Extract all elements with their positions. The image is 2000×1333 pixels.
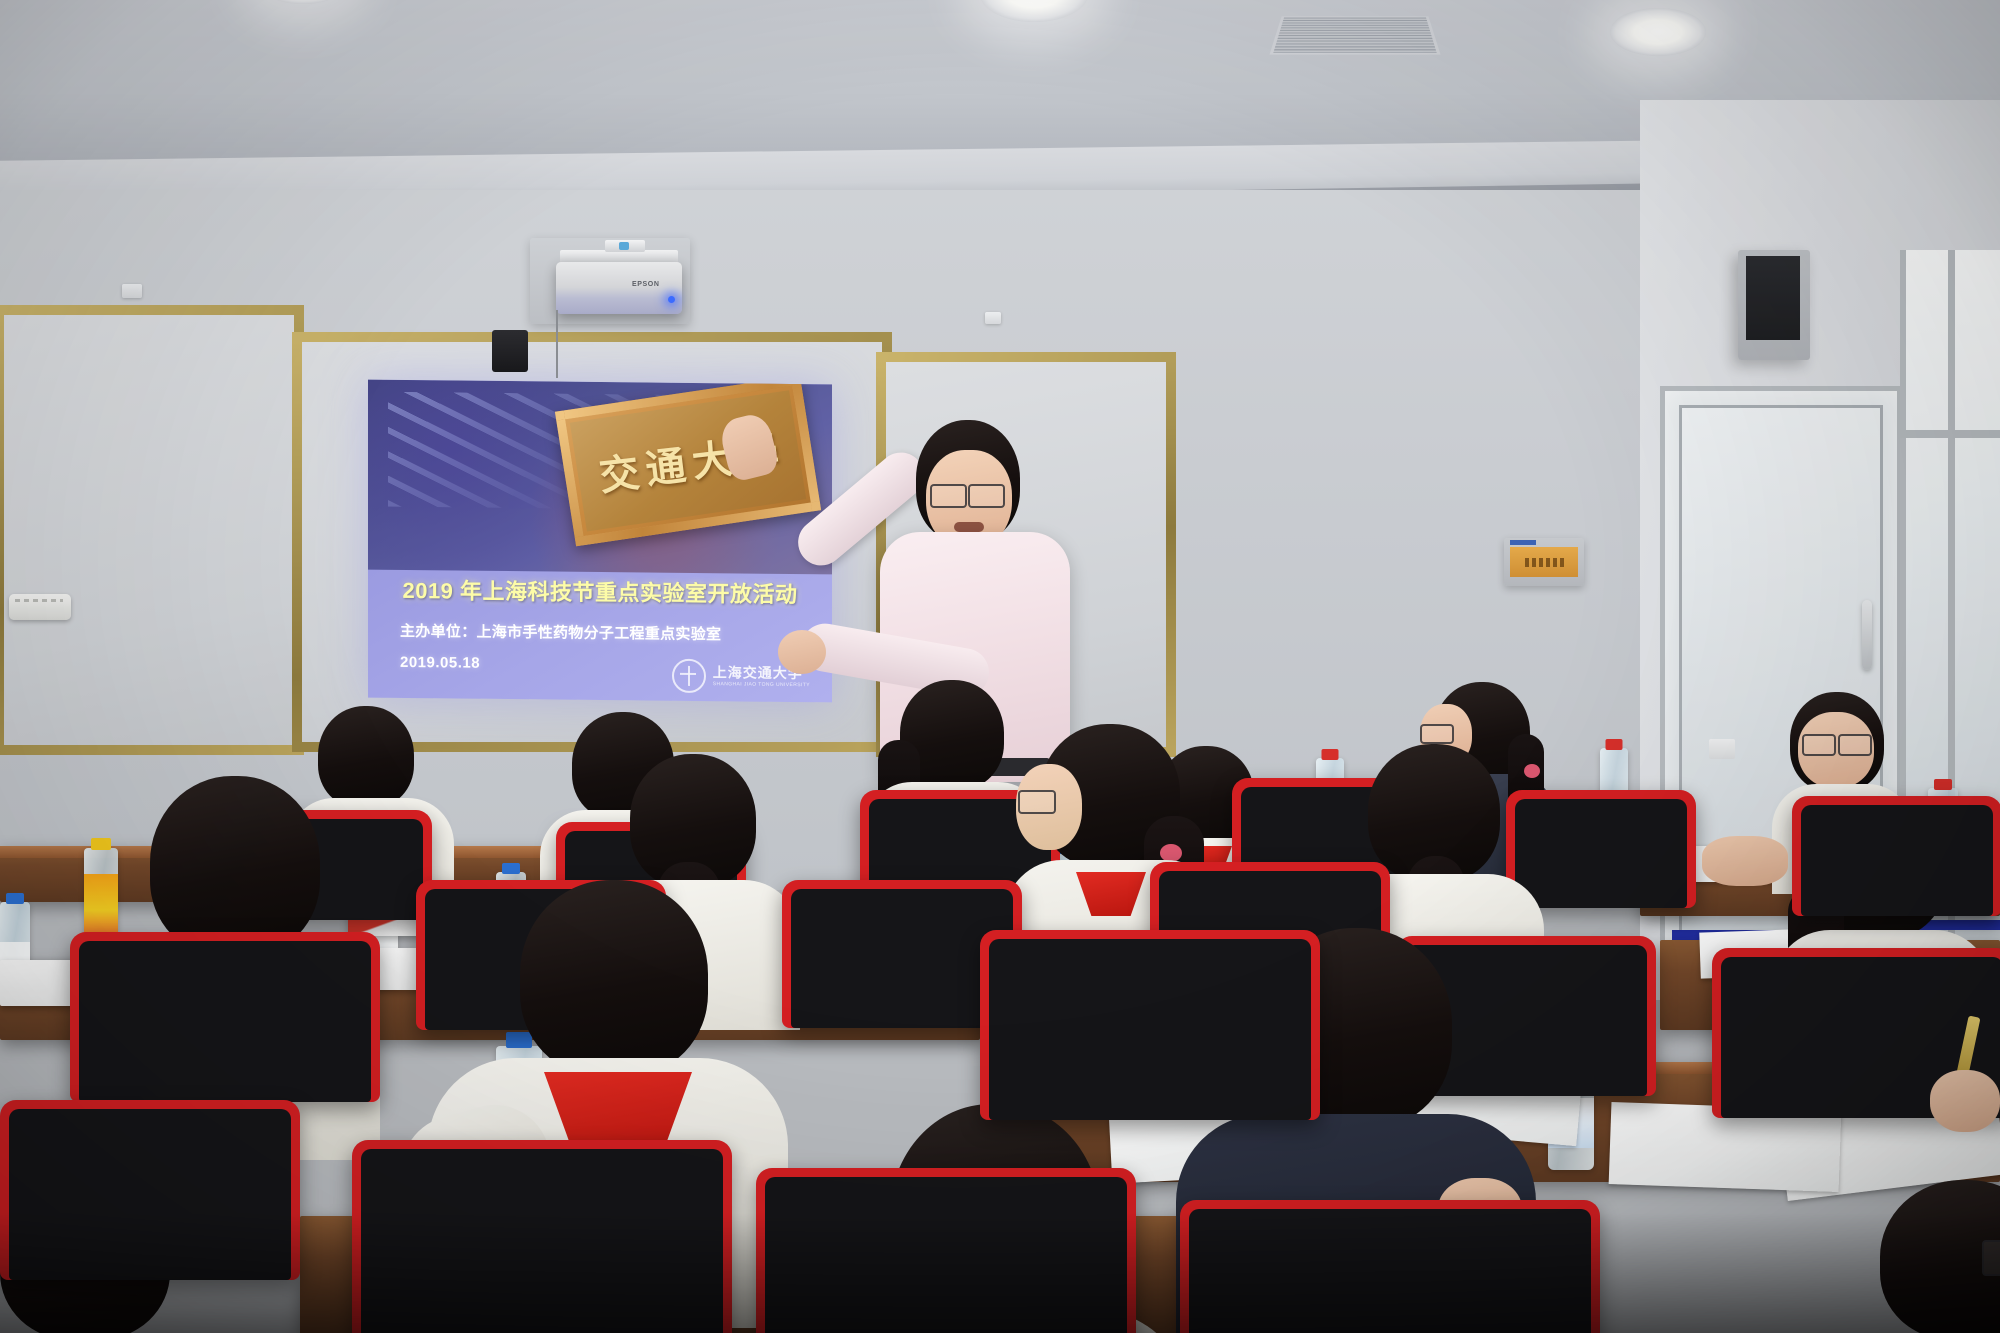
- wall-socket[interactable]: [122, 284, 142, 298]
- whiteboard-surface: [4, 315, 294, 745]
- chair[interactable]: [980, 930, 1320, 1120]
- whiteboard-panel-left: [0, 305, 304, 755]
- projector-top-module: [605, 240, 645, 252]
- student-head: [150, 776, 320, 956]
- projector-power-led: [668, 296, 675, 303]
- hair-tie: [1524, 764, 1540, 778]
- control-panel-screen[interactable]: [1510, 547, 1578, 577]
- projector-brand-label: EPSON: [632, 281, 660, 288]
- chair[interactable]: [756, 1168, 1136, 1333]
- bottle-cap: [91, 838, 111, 850]
- control-panel-tag: [1510, 540, 1536, 545]
- slide-title: 2019 年上海科技节重点实验室开放活动: [368, 573, 832, 610]
- presenter-lower-hand: [778, 630, 826, 674]
- projector-hanging-cable: [556, 310, 558, 378]
- bottle-label: [84, 874, 118, 934]
- hand: [1930, 1070, 2000, 1132]
- classroom-photo: 交 通 大 學 2019 年上海科技节重点实验室开放活动 主办单位：上海市手性药…: [0, 0, 2000, 1333]
- chair-seatback: [1189, 1209, 1591, 1333]
- wall-speaker: [1738, 250, 1810, 360]
- door-handle[interactable]: [1862, 600, 1872, 670]
- university-seal-icon: [672, 659, 706, 693]
- chair[interactable]: [0, 1100, 300, 1280]
- whiteboard-eraser[interactable]: [9, 594, 71, 620]
- chair[interactable]: [352, 1140, 732, 1333]
- university-name-en: SHANGHAI JIAO TONG UNIVERSITY: [713, 681, 810, 688]
- bottle-cap: [1606, 739, 1623, 750]
- bottle-cap: [502, 863, 520, 874]
- chair-seatback: [79, 941, 371, 1102]
- student-head: [520, 880, 708, 1076]
- student-glasses: [1838, 734, 1872, 756]
- presenter-glasses: [930, 484, 967, 508]
- chair[interactable]: [70, 932, 380, 1102]
- chair-seatback: [361, 1149, 723, 1333]
- wall-mounted-box: [492, 330, 528, 372]
- projector-body: [556, 262, 682, 314]
- plaque-char: 通: [641, 433, 688, 495]
- wall-socket[interactable]: [985, 312, 1001, 324]
- bottle-cap: [1322, 749, 1339, 760]
- chair-seatback: [9, 1109, 291, 1280]
- chair-seatback: [1515, 799, 1687, 908]
- slide-date: 2019.05.18: [400, 654, 480, 672]
- ceiling-downlight: [1610, 8, 1706, 56]
- chair-seatback: [1801, 805, 1993, 916]
- plaque-char: 交: [595, 440, 642, 502]
- chair-seatback: [765, 1177, 1127, 1333]
- speaker-grille-icon: [1746, 256, 1800, 340]
- chair[interactable]: [1506, 790, 1696, 908]
- student-glasses: [1018, 790, 1056, 814]
- wall-control-panel[interactable]: [1504, 538, 1584, 586]
- presenter-glasses: [968, 484, 1005, 508]
- bottle-cap: [506, 1032, 532, 1048]
- presenter-mouth: [954, 522, 984, 532]
- slide-organizer-line: 主办单位：上海市手性药物分子工程重点实验室: [400, 620, 820, 645]
- bottle-cap: [1934, 779, 1952, 790]
- chair[interactable]: [1792, 796, 2000, 916]
- chair-seatback: [989, 939, 1311, 1120]
- light-switch[interactable]: [1709, 739, 1735, 759]
- bottle-cap: [6, 893, 24, 904]
- student-glasses: [1802, 734, 1836, 756]
- chair[interactable]: [1180, 1200, 1600, 1333]
- student-glasses: [1420, 724, 1454, 744]
- window-mullion: [1900, 430, 2000, 438]
- ceiling-air-vent: [1269, 16, 1440, 54]
- student-head: [318, 706, 414, 808]
- hand: [1702, 836, 1788, 886]
- student-glasses: [1982, 1240, 2000, 1276]
